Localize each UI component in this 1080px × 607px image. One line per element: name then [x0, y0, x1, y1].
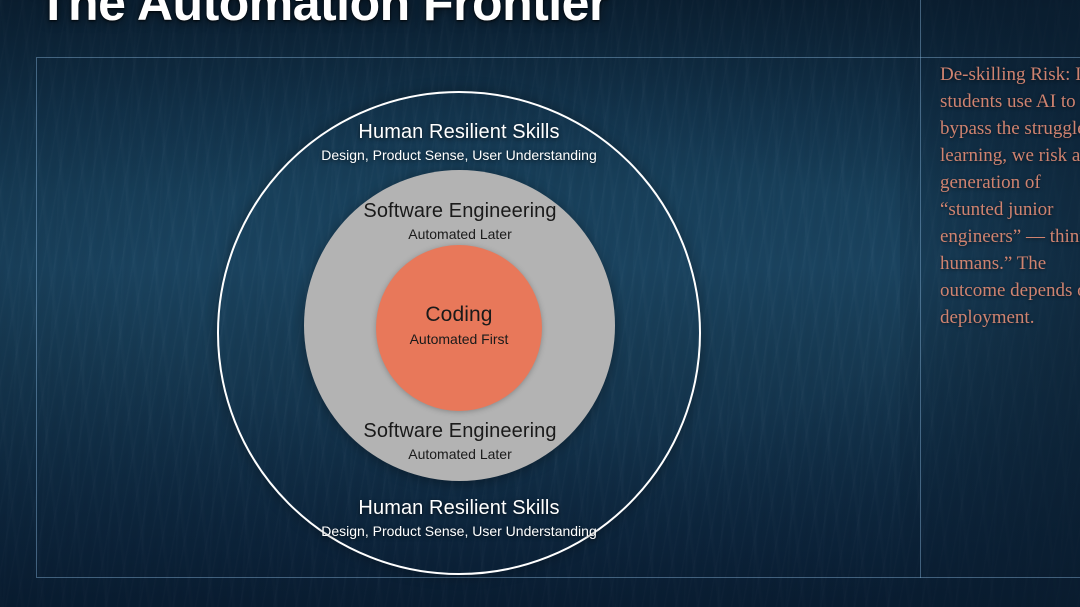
label-middle-bottom: Software Engineering Automated Later: [310, 419, 610, 463]
label-core-head: Coding: [380, 302, 538, 328]
label-core: Coding Automated First: [380, 302, 538, 348]
de-skilling-risk-caption: De-skilling Risk: If students use AI to …: [940, 62, 1080, 332]
label-outer-bottom-sub: Design, Product Sense, User Understandin…: [300, 523, 618, 540]
label-middle-top-sub: Automated Later: [310, 226, 610, 243]
label-middle-bottom-sub: Automated Later: [310, 446, 610, 463]
label-middle-top-head: Software Engineering: [310, 199, 610, 223]
slide-canvas: The Automation Frontier Human Resilient …: [0, 0, 1080, 607]
label-core-sub: Automated First: [380, 331, 538, 348]
label-middle-top: Software Engineering Automated Later: [310, 199, 610, 243]
label-outer-top-sub: Design, Product Sense, User Understandin…: [230, 147, 688, 164]
label-outer-bottom: Human Resilient Skills Design, Product S…: [300, 496, 618, 540]
concentric-diagram: Human Resilient Skills Design, Product S…: [0, 0, 1080, 607]
label-outer-top-head: Human Resilient Skills: [230, 120, 688, 144]
label-outer-top: Human Resilient Skills Design, Product S…: [230, 120, 688, 164]
label-middle-bottom-head: Software Engineering: [310, 419, 610, 443]
label-outer-bottom-head: Human Resilient Skills: [300, 496, 618, 520]
